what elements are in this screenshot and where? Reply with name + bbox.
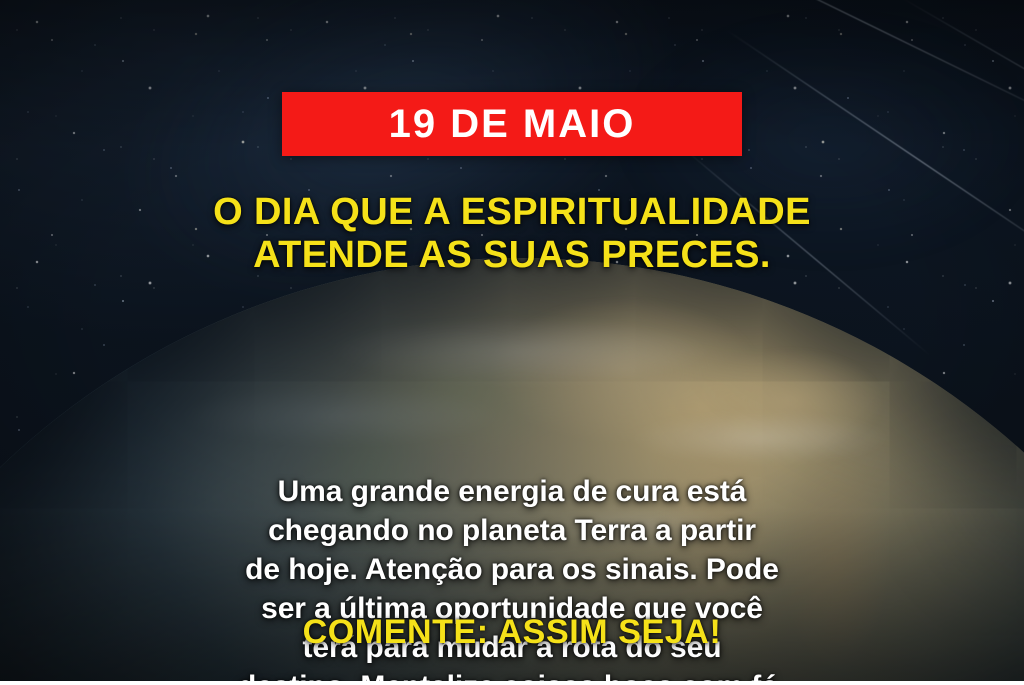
body-line-1: Uma grande energia de cura está [62,472,962,511]
bottom-edge-strip [0,681,1024,685]
date-banner-label: 19 DE MAIO [389,104,636,144]
body-line-3: de hoje. Atenção para os sinais. Pode [62,550,962,589]
headline: O DIA QUE A ESPIRITUALIDADE ATENDE AS SU… [0,191,1024,276]
headline-line-1: O DIA QUE A ESPIRITUALIDADE [0,191,1024,234]
poster-canvas: 19 DE MAIO O DIA QUE A ESPIRITUALIDADE A… [0,0,1024,685]
poster-content: 19 DE MAIO O DIA QUE A ESPIRITUALIDADE A… [0,0,1024,685]
date-banner: 19 DE MAIO [282,92,742,156]
body-paragraph: Uma grande energia de cura está chegando… [62,472,962,685]
body-line-2: chegando no planeta Terra a partir [62,511,962,550]
headline-line-2: ATENDE AS SUAS PRECES. [0,234,1024,277]
call-to-action: COMENTE: ASSIM SEJA! [0,613,1024,652]
